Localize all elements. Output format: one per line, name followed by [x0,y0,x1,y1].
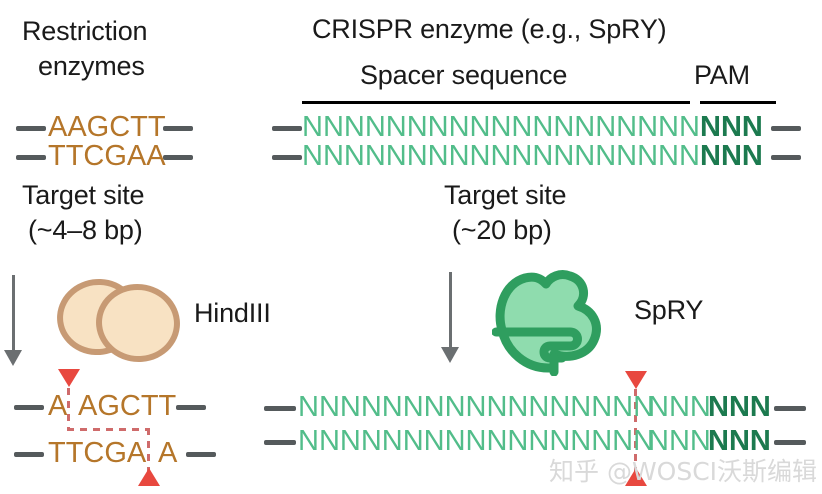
pam-label: PAM [694,60,750,91]
figure-canvas: Restriction enzymes AAGCTT TTCGAA Target… [0,0,822,494]
right-top-strand-left-dash [272,126,302,131]
left-cut-bottom-strand-left-dash [14,452,44,457]
left-cut-top-strand-right-dash [176,405,206,410]
right-bottom-strand-right-dash [771,155,801,160]
right-cut-bottom-strand-right-dash [774,440,806,445]
left-cut-top-strand-right-bases: AGCTT [78,392,176,421]
right-cut-top-strand-right-dash [774,406,806,411]
right-top-strand-spacer: NNNNNNNNNNNNNNNNNNNN [302,113,721,142]
right-panel-title: CRISPR enzyme (e.g., SpRY) [312,14,666,45]
left-bottom-strand-sequence: TTCGAA [48,142,166,171]
right-cut-top-strand-right-spacer: NNN [648,393,711,422]
right-flow-arrow-head [441,347,459,363]
left-top-strand-sequence: AAGCTT [48,113,166,142]
left-cut-line-horizontal [67,428,149,431]
left-cut-top-strand-left-base: A [48,392,67,421]
left-panel-title-line1: Restriction [22,16,147,47]
left-cut-top-strand-left-dash [14,405,44,410]
left-flow-arrow-shaft [12,275,15,353]
right-target-site-label-line2: (~20 bp) [452,215,552,246]
spacer-sequence-label: Spacer sequence [360,60,567,91]
right-cut-top-strand-pam: NNN [708,393,771,422]
left-cut-bottom-strand-right-base: A [158,439,177,468]
pam-underline-rule [700,101,776,104]
left-panel-title-line2: enzymes [38,51,145,82]
left-cut-bottom-strand-left-bases: TTCGA [48,439,146,468]
left-top-strand-right-dash [163,126,193,131]
restriction-enzyme-name: HindIII [194,298,271,329]
left-flow-arrow-head [4,350,22,366]
left-bottom-strand-right-dash [163,155,193,160]
right-cut-marker-top [625,371,647,389]
spacer-underline-rule [302,101,690,104]
watermark-text: 知乎 @WOSCI沃斯编辑 [549,452,817,488]
spry-protein-icon [492,268,620,376]
crispr-enzyme-name: SpRY [634,295,703,326]
left-cut-line-vertical-top [67,388,70,430]
right-cut-top-strand-left-spacer: NNNNNNNNNNNNNNNNN [298,393,654,422]
right-cut-top-strand-left-dash [264,406,296,411]
left-target-site-label-line1: Target site [22,180,144,211]
right-bottom-strand-pam: NNN [700,142,763,171]
right-cut-bottom-strand-left-dash [264,440,296,445]
right-flow-arrow-shaft [449,272,452,350]
right-bottom-strand-spacer: NNNNNNNNNNNNNNNNNNNN [302,142,721,171]
right-top-strand-right-dash [771,126,801,131]
right-bottom-strand-left-dash [272,155,302,160]
right-top-strand-pam: NNN [700,113,763,142]
left-cut-marker-bottom [138,468,160,486]
left-cut-marker-top [58,369,80,387]
left-target-site-label-line2: (~4–8 bp) [28,215,143,246]
left-cut-bottom-strand-right-dash [186,452,216,457]
left-top-strand-left-dash [16,126,46,131]
left-bottom-strand-left-dash [16,155,46,160]
right-target-site-label-line1: Target site [444,180,566,211]
